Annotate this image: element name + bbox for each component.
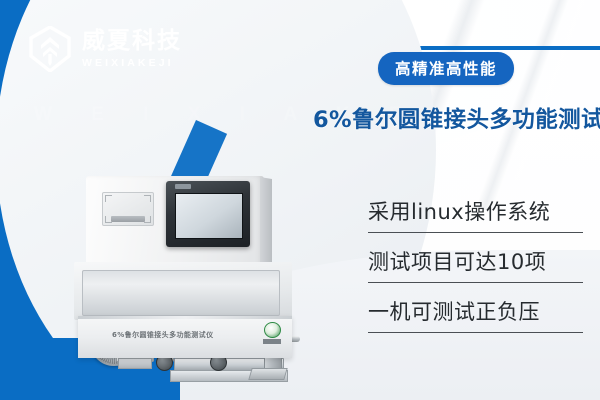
hexagon-shield-icon [28,26,72,72]
end-bracket-foot [248,368,287,380]
feature-divider-2 [368,282,583,283]
feature-divider-3 [368,332,583,333]
machine-model-label: 6%鲁尔圆锥接头多功能测试仪 [112,330,213,340]
product-banner: 威夏科技 WEIXIAKEJI W E I X I A K E J I 高精准高… [0,0,600,400]
wheel-foot [118,358,152,369]
brand-logo: 威夏科技 WEIXIAKEJI [28,26,182,72]
hmi-brand-strip [175,184,191,189]
feature-item-2: 测试项目可达10项 [368,246,583,282]
brand-name-cn: 威夏科技 [82,30,182,53]
machine-base [74,262,292,320]
touchscreen-panel-icon [166,181,250,247]
hmi-display [175,193,243,239]
certification-badge-icon [262,322,282,344]
feature-list: 采用linux操作系统 测试项目可达10项 一机可测试正负压 [368,196,583,346]
machine-cabinet-edge [260,177,272,269]
feature-item-3: 一机可测试正负压 [368,296,583,332]
machine-access-panel [102,192,154,226]
feature-divider-1 [368,232,583,233]
brand-name-en: WEIXIAKEJI [82,58,182,69]
machine-front-plinth: 6%鲁尔圆锥接头多功能测试仪 [78,316,292,358]
cert-caption-bar [263,339,281,344]
hero-title: 6%鲁尔圆锥接头多功能测试仪 [313,102,600,134]
feature-item-1: 采用linux操作系统 [368,196,583,232]
machine-tray [82,270,280,316]
product-image: 6%鲁尔圆锥接头多功能测试仪 [74,176,306,362]
cert-emblem [264,322,281,338]
hero-badge: 高精准高性能 [378,52,514,85]
